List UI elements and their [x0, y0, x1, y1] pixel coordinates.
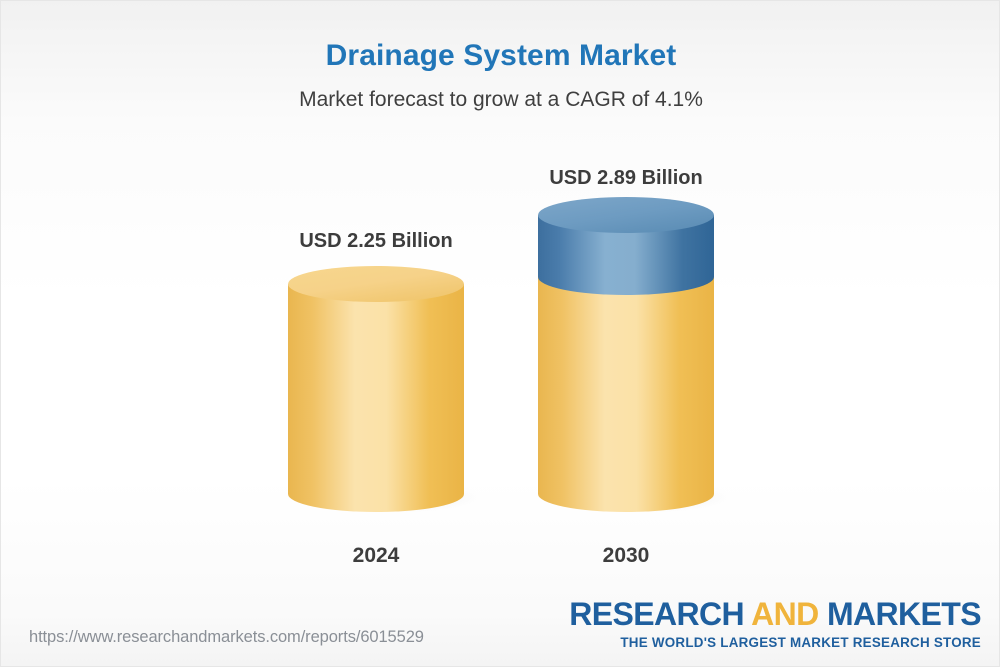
cylinder-2024-graphic [288, 266, 464, 512]
cylinder-2024[interactable] [288, 266, 464, 512]
brand-word-markets: MARKETS [827, 596, 981, 632]
chart-plot-area: USD 2.25 Billion [1, 1, 1000, 668]
brand-logo[interactable]: RESEARCH AND MARKETS THE WORLD'S LARGEST… [569, 598, 981, 650]
cylinder-2030-base-segment [538, 277, 714, 512]
cylinder-2030-top-cap [538, 197, 714, 233]
cylinder-2030-graphic [538, 197, 714, 512]
bar-value-label-2030: USD 2.89 Billion [501, 167, 751, 190]
brand-word-and: AND [751, 596, 819, 632]
footer: https://www.researchandmarkets.com/repor… [1, 576, 1000, 666]
brand-tagline: THE WORLD'S LARGEST MARKET RESEARCH STOR… [569, 635, 981, 650]
brand-word-research: RESEARCH [569, 596, 744, 632]
bar-value-label-2024: USD 2.25 Billion [251, 230, 501, 253]
source-url-link[interactable]: https://www.researchandmarkets.com/repor… [29, 628, 424, 647]
brand-logo-wordmark: RESEARCH AND MARKETS [569, 598, 981, 630]
axis-label-2024: 2024 [251, 544, 501, 568]
axis-label-2030: 2030 [501, 544, 751, 568]
cylinder-2024-body [288, 284, 464, 512]
infographic-canvas: Drainage System Market Market forecast t… [0, 0, 1000, 667]
cylinder-2030[interactable] [538, 197, 714, 512]
cylinder-2024-top-cap [288, 266, 464, 302]
